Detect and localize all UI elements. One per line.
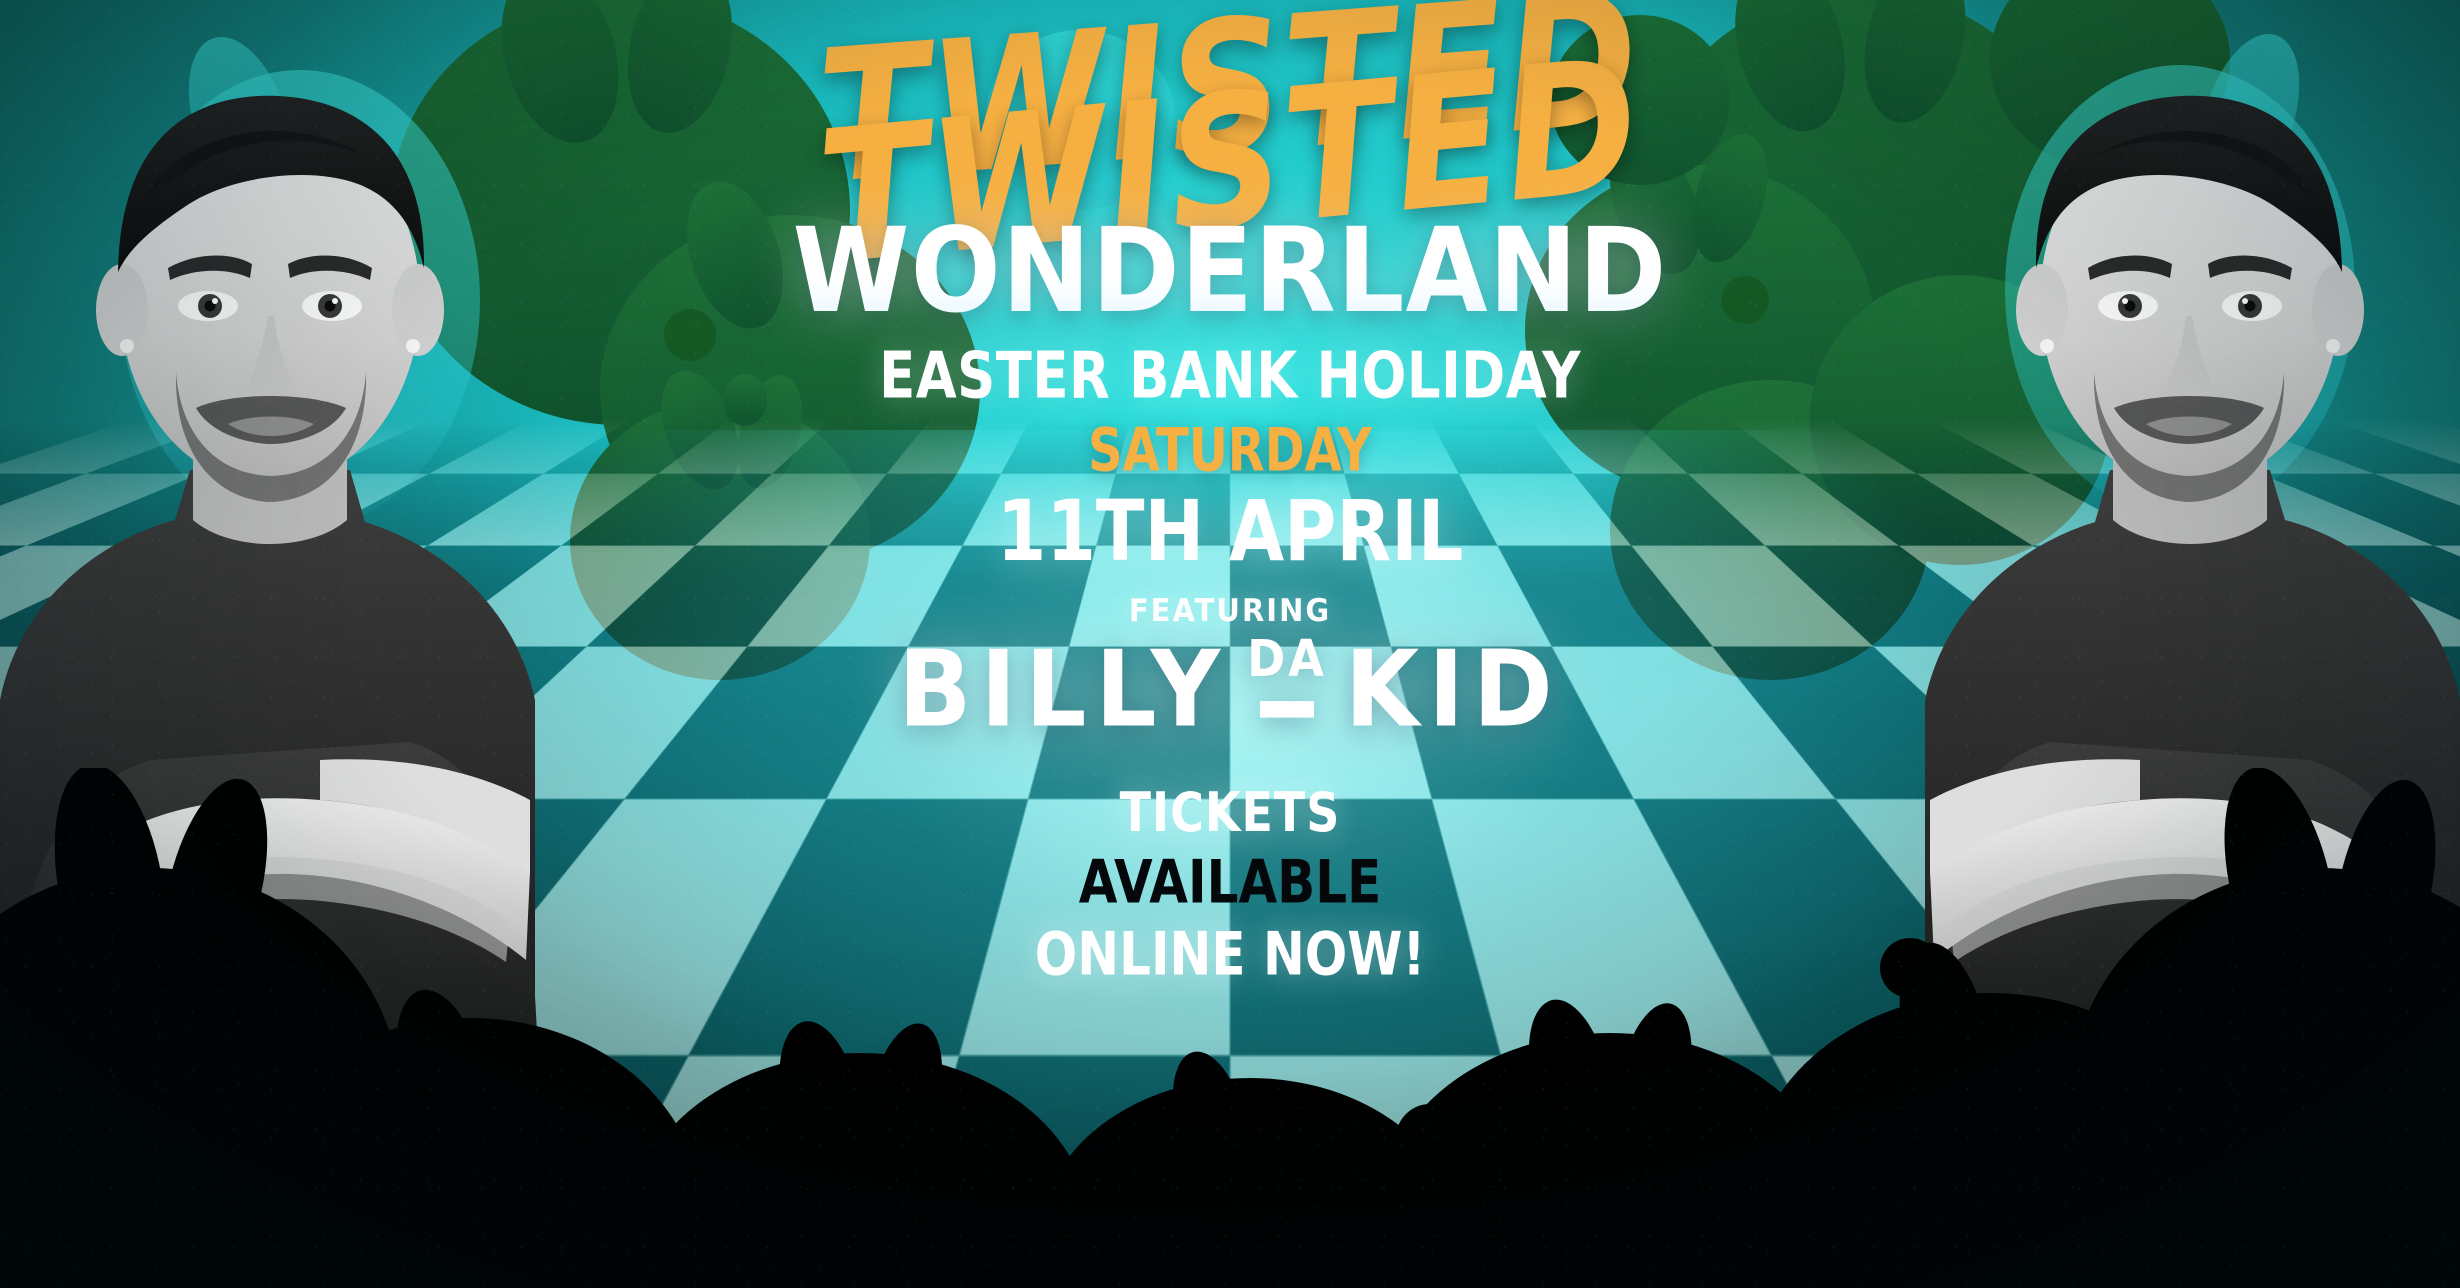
occasion-text: EASTER BANK HOLIDAY [622,338,1837,412]
poster-text-block: TWISTED TWISTED WONDERLAND EASTER BANK H… [610,0,1850,1288]
cta-online-now: ONLINE NOW! [610,919,1850,989]
artist-name-last: KID [1345,627,1562,750]
cta-tickets: TICKETS [610,780,1850,844]
artist-name-middle: DA [1247,632,1327,683]
earring [120,339,134,353]
artist-underscore-bar [1260,700,1314,717]
day-text: SATURDAY [635,415,1825,485]
event-poster: TWISTED TWISTED WONDERLAND EASTER BANK H… [0,0,2460,1288]
featuring-label: FEATURING [610,591,1850,628]
artist-name-middle-group: DA [1247,632,1327,717]
artist-name-first: BILLY [898,627,1229,750]
artist-name: BILLY DA KID [610,627,1850,750]
cta-available: AVAILABLE [610,847,1850,917]
title-twisted-stack: TWISTED TWISTED [610,10,1850,230]
subtitle-wonderland: WONDERLAND [598,218,1863,325]
date-text: 11TH APRIL [616,482,1844,579]
